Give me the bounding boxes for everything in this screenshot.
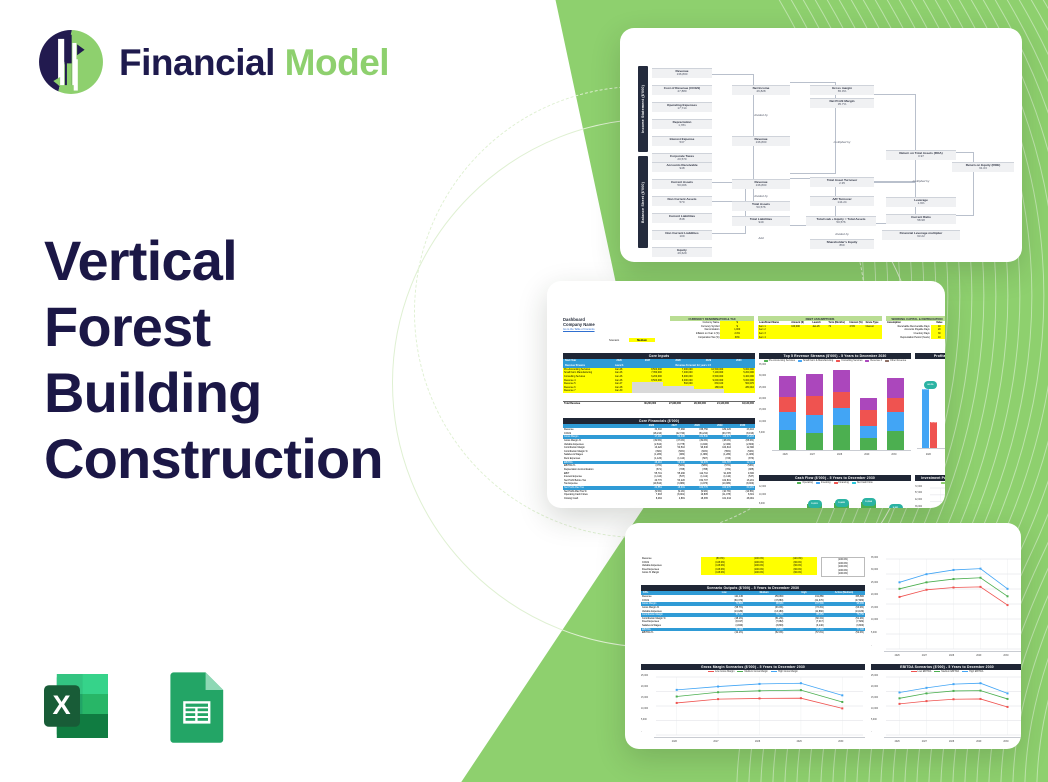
node-revenue-2: Revenue136,800 — [732, 136, 790, 146]
operator-divided-by-2: divided by — [732, 194, 790, 198]
bar-value-label: 31,590 — [922, 389, 929, 391]
node-cogs: Cost of Revenue (COGS)47,880 — [652, 85, 712, 95]
y-tick-label: 10,000 — [759, 421, 766, 423]
bar-segment — [779, 397, 795, 412]
page-title: Vertical Forest Building Construction — [44, 228, 514, 492]
node-total-assets: Total Assets50,576 — [732, 201, 790, 211]
cell-value: 18,365 — [686, 497, 709, 501]
y-tick-label: 25,000 — [759, 387, 766, 389]
y-tick-label: 35,000 — [759, 364, 766, 366]
panel-currency-tax: CURRENCY DENOMINATION & TAX Currency Nam… — [670, 316, 754, 339]
x-tick-label: 2029 — [864, 454, 869, 456]
cell-value: 48,091 — [732, 497, 755, 501]
chart-legend: Operating Investing Financing Net Cash F… — [759, 481, 911, 485]
scenario-driver-rows: Revenue(80.0%)(100.0%)(120.0%)COGS(115.0… — [641, 557, 817, 575]
bar-segment — [887, 431, 903, 450]
cell-value[interactable]: (90.0%) — [778, 571, 817, 575]
dashboard-sheet: Dashboard Company Name Go to the Table o… — [557, 289, 935, 500]
line-chart-svg — [641, 675, 865, 743]
bar-segment — [833, 392, 849, 408]
chart-plot-area: 35,00030,00025,00020,00015,00010,0005,00… — [759, 364, 911, 456]
title-line-2: Forest — [44, 294, 514, 360]
node-total-liabilities: Total Liabilities949 — [732, 216, 790, 226]
cell-label: EBITDA % — [641, 631, 704, 635]
chart-legend: Low Gross Margin Medium Gross Margin Hig… — [641, 670, 865, 674]
bar-segment — [887, 412, 903, 431]
chart-plot-area: 25,00020,00015,00010,0005,000-2026202720… — [641, 675, 865, 743]
node-current-ratio: Current Ratio58.98 — [886, 214, 956, 224]
table-core-inputs: Core Inputs Start Year202620272028202920… — [563, 353, 755, 406]
table-core-financials: Core Financials ($'000) 2026202720282029… — [563, 418, 755, 500]
connector — [790, 82, 836, 174]
brand-logo: Financial Model — [37, 28, 389, 96]
cell-value: 4,881 — [663, 497, 686, 501]
operator-multiplied-by-2: multiplied by — [886, 179, 956, 183]
value-badge: 10,504 — [862, 498, 876, 506]
title-line-1: Vertical — [44, 228, 514, 294]
y-tick-label: 12,000 — [759, 486, 766, 488]
scenario-output-rows: Revenue121,130156,800191,880156,800COGS(… — [641, 595, 865, 635]
table-row: EBITDA %(42.1%)(52.0%)(57.0%)(52.0%) — [641, 631, 865, 635]
bar-segment — [833, 370, 849, 392]
bar-segment — [887, 398, 903, 413]
chart-legend: Revenue EBITDA EBITDA % — [915, 359, 945, 363]
bar — [922, 389, 929, 448]
bar-segment — [806, 374, 822, 396]
node-operating-expenses: Operating Expenses17,714 — [652, 102, 712, 112]
cell-value: (100.0%) — [822, 572, 864, 576]
table-scenario-outputs: Scenario Outputs ($'000) - 5 Years to De… — [641, 585, 865, 635]
table-of-contents-link[interactable]: Go to the Table of Contents — [563, 328, 663, 331]
table-scenario-drivers: Revenue(80.0%)(100.0%)(120.0%)COGS(115.0… — [641, 557, 817, 575]
bar-segment — [806, 415, 822, 433]
chart-revenue-scenarios: 35,00030,00025,00020,00015,00010,0005,00… — [871, 557, 1021, 657]
table-row: Gross % Margin(115.0%)(100.0%)(90.0%) — [641, 571, 817, 575]
cell-label: Gross % Margin — [641, 571, 701, 575]
node-accounts-receivable: Accounts Receivable948 — [652, 162, 712, 172]
x-tick-label: 2026 — [783, 454, 788, 456]
chart-cash-flow: Cash Flow ($'000) - 5 Years to December … — [759, 475, 911, 508]
panel-debt-assumptions: DEBT ASSUMPTIONS Loan/Grant Name Amount … — [758, 316, 882, 339]
table-row: Closing Cash8,4844,88118,365101,04448,09… — [563, 497, 755, 501]
bar-segment — [779, 412, 795, 430]
node-current-liabilities: Current Liabilities848 — [652, 213, 712, 223]
chart-top5-revenue-streams: Top 5 Revenue Streams ($'000) - 5 Years … — [759, 353, 911, 471]
bar — [930, 422, 937, 448]
rail-income-statement: Income Statement ($'000) — [638, 66, 648, 152]
node-equity: Equity49,629 — [652, 247, 712, 257]
value-badge: 10,405 — [835, 499, 849, 507]
chart-plot-area: 12,00010,0008,0006,0004,0002,000-(2,000)… — [759, 486, 911, 508]
cell-value: 8,484 — [640, 497, 663, 501]
node-roa: Return on Total Assets (ROA)0.97 — [886, 150, 956, 160]
brand-name-part1: Financial — [119, 42, 275, 83]
bar-segment — [860, 426, 876, 439]
scenario-selector[interactable]: Medium — [629, 338, 655, 342]
chart-ebitda-scenarios: EBITDA Scenarios ($'000) - 5 Years to De… — [871, 664, 1021, 749]
node-total-asset-turnover: Total Asset Turnover2.35 — [810, 177, 874, 187]
line-chart-svg — [871, 675, 1021, 743]
chart-legend: Pre-Accounting Services Small Farm & Man… — [759, 359, 911, 363]
node-financial-leverage-multiplier: Financial Leverage multiplier63.22 — [882, 230, 960, 240]
node-non-current-liabilities: Non Current Liabilities109 — [652, 230, 712, 240]
chart-plot-area: 72,00057,00042,00036,00030,00024,00018,0… — [915, 486, 945, 508]
chart-legend: Low EBITDA Medium EBITDA High EBITDA — [871, 670, 1021, 674]
node-gross-margin: Gross margin65.0% — [810, 85, 874, 95]
brand-name-part2: Model — [285, 42, 389, 83]
bar-segment — [806, 396, 822, 415]
rail-balance-sheet: Balance Sheet ($'000) — [638, 156, 648, 248]
bar-segment — [806, 433, 822, 450]
title-line-3: Building — [44, 360, 514, 426]
scenario-active-rows: (100.0%)(100.0%)(100.0%)(100.0%)(100.0%) — [822, 558, 864, 576]
cell-value[interactable]: (100.0%) — [740, 571, 779, 575]
cell-value: 101,044 — [709, 497, 732, 501]
y-tick-label: 20,000 — [759, 398, 766, 400]
file-format-icons: X — [36, 666, 236, 746]
bar-segment — [833, 408, 849, 425]
cell-value[interactable]: (115.0%) — [701, 571, 740, 575]
screenshot-card-scenarios[interactable]: Revenue(80.0%)(100.0%)(120.0%)COGS(115.0… — [625, 523, 1021, 749]
node-total-liab-equity: Total Liab + Equity = Total Assets50,576 — [806, 216, 876, 226]
bar-segment — [860, 398, 876, 410]
screenshot-card-dashboard[interactable]: Dashboard Company Name Go to the Table o… — [547, 281, 945, 508]
x-tick-label: 2030 — [891, 454, 896, 456]
brand-wordmark: Financial Model — [119, 44, 389, 81]
y-tick-label: - — [759, 444, 760, 446]
screenshot-card-dupont-tree[interactable]: Income Statement ($'000) Balance Sheet (… — [620, 28, 1022, 262]
panel-working-capital: WORKING CAPITAL & DEPRECIATION Assumptio… — [886, 316, 945, 339]
y-tick-label: 8,000 — [759, 503, 765, 505]
dupont-tree-sheet: Income Statement ($'000) Balance Sheet (… — [630, 36, 1012, 254]
operator-divided-by: divided by — [732, 113, 790, 117]
cell-value: (42.1%) — [704, 631, 744, 635]
scenario-label: Scenario — [609, 339, 619, 342]
node-revenue-3: Revenue136,800 — [732, 179, 790, 189]
title-line-4: Construction — [44, 426, 514, 492]
bar-segment — [833, 425, 849, 450]
node-leverage: Leverage1.9% — [886, 197, 956, 207]
node-net-income: Net Income46,828 — [732, 85, 790, 95]
node-non-current-assets: Non Current Assets570 — [652, 196, 712, 206]
node-roe: Return on Equity (ROE)61.03 — [952, 162, 1014, 172]
y-tick-label: 10,000 — [759, 494, 766, 496]
value-badge: 9,201 — [889, 504, 903, 508]
value-badge: 10,201 — [808, 500, 822, 508]
x-tick-label: 2028 — [837, 454, 842, 456]
node-interest-expense: Interest Expense537 — [652, 136, 712, 146]
line-chart-svg — [871, 557, 1021, 657]
bar-segment — [887, 378, 903, 397]
bar-segment — [779, 430, 795, 451]
cell-value: (52.0%) — [744, 631, 784, 635]
financial-model-circle-logo-icon — [37, 28, 105, 96]
chart-gross-margin-scenarios: Gross Margin Scenarios ($'000) - 5 Years… — [641, 664, 865, 749]
node-ar-turnover: A/R Turnover144.24 — [810, 196, 874, 206]
cell-label: Closing Cash — [563, 497, 640, 501]
bar-value-label: 14,100 — [930, 422, 937, 424]
x-tick-label: 2027 — [810, 454, 815, 456]
chart-plot-area: 25,00020,00015,00010,0005,000-2026202720… — [871, 675, 1021, 743]
node-current-assets: Current Assets50,006 — [652, 179, 712, 189]
chart-investment-payback: Investment Payback Chart ($'000) - 5 Yea… — [915, 475, 945, 508]
cell-value: (52.0%) — [825, 631, 865, 635]
promo-banner: Financial Model Vertical Forest Building… — [0, 0, 1048, 782]
core-financials-rows: Revenue34,30277,082156,750182,12023,410C… — [563, 428, 755, 500]
node-depreciation: Depreciation1,781 — [652, 119, 712, 129]
bar-segment — [860, 410, 876, 425]
operator-multiplied-by: multiplied by — [810, 140, 874, 144]
operator-divided-by-3: divided by — [810, 232, 874, 236]
y-tick-label: 30,000 — [759, 375, 766, 377]
scenario-sheet: Revenue(80.0%)(100.0%)(120.0%)COGS(115.0… — [635, 531, 1011, 741]
line-chart-svg — [915, 486, 945, 508]
y-tick-label: 5,000 — [759, 432, 765, 434]
chart-profitability: Profitability ($'000) - 5 Years to Decem… — [915, 353, 945, 471]
microsoft-excel-icon: X — [36, 666, 116, 746]
svg-text:X: X — [53, 689, 71, 720]
bar-segment — [860, 438, 876, 450]
y-tick-label: 15,000 — [759, 409, 766, 411]
x-tick-label: 2026 — [926, 454, 931, 456]
node-shareholders-equity: Shareholder's Equity860 — [810, 239, 874, 249]
google-sheets-icon — [156, 666, 236, 746]
table-row: (100.0%) — [822, 572, 864, 576]
node-net-profit-margin: Net Profit Margin35.7% — [810, 98, 874, 108]
operator-add: Add — [732, 236, 790, 240]
table-scenario-active: (100.0%)(100.0%)(100.0%)(100.0%)(100.0%) — [821, 557, 865, 577]
cell-value: (57.0%) — [784, 631, 824, 635]
node-revenue: Revenue136,800 — [652, 68, 712, 78]
dashboard-company-header: Dashboard Company Name Go to the Table o… — [563, 317, 663, 331]
connector — [870, 94, 916, 182]
bar-segment — [779, 376, 795, 397]
chart-plot-area: 35,00030,00025,00020,00015,00010,0005,00… — [871, 557, 1021, 657]
chart-legend: Payback year Cumulative Cash Generated (… — [915, 481, 945, 485]
percent-badge: 66.2% — [924, 381, 937, 389]
chart-plot-area: 31,59014,10066.2%202637,04019,21051.8%20… — [915, 364, 945, 456]
